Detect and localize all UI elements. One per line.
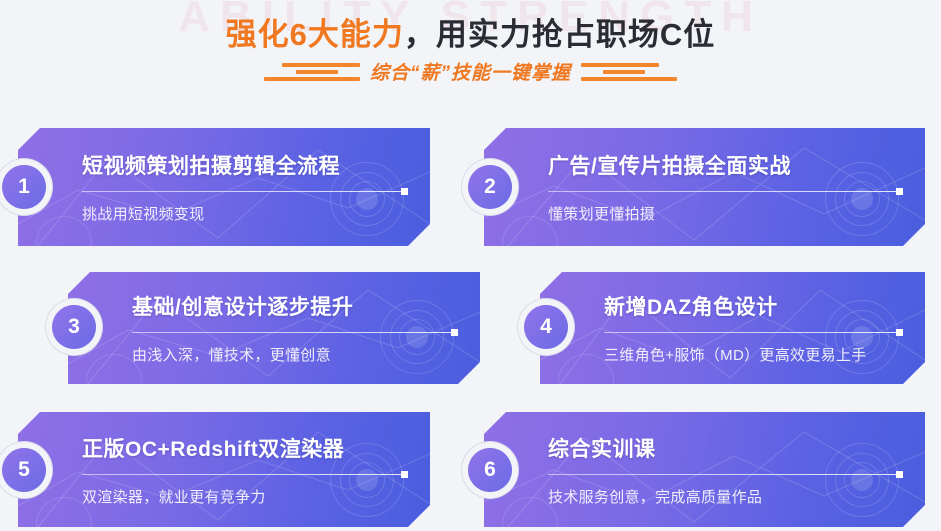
feature-card[interactable]: 正版OC+Redshift双渲染器 双渲染器，就业更有竞争力 [18, 412, 430, 527]
feature-card-subtitle: 双渲染器，就业更有竞争力 [82, 486, 406, 507]
feature-card[interactable]: 基础/创意设计逐步提升 由浅入深，懂技术，更懂创意 [68, 272, 480, 384]
feature-card-number-badge: 5 [2, 448, 46, 492]
feature-card[interactable]: 综合实训课 技术服务创意，完成高质量作品 [484, 412, 925, 527]
feature-card[interactable]: 短视频策划拍摄剪辑全流程 挑战用短视频变现 [18, 128, 430, 246]
feature-card-number-badge: 2 [468, 165, 512, 209]
feature-card-title: 短视频策划拍摄剪辑全流程 [82, 150, 406, 180]
feature-card-content: 基础/创意设计逐步提升 由浅入深，懂技术，更懂创意 [132, 272, 456, 384]
feature-card-subtitle: 技术服务创意，完成高质量作品 [548, 486, 901, 507]
feature-card-divider [132, 332, 456, 333]
feature-card-number-badge: 1 [2, 165, 46, 209]
feature-card-title: 新增DAZ角色设计 [604, 291, 901, 321]
feature-card-title: 综合实训课 [548, 433, 901, 463]
feature-card-number-badge: 4 [524, 305, 568, 349]
feature-card-content: 广告/宣传片拍摄全面实战 懂策划更懂拍摄 [548, 128, 901, 246]
feature-card-title: 广告/宣传片拍摄全面实战 [548, 150, 901, 180]
feature-card-divider [548, 191, 901, 192]
feature-card[interactable]: 新增DAZ角色设计 三维角色+服饰（MD）更高效更易上手 [540, 272, 925, 384]
feature-card-title: 正版OC+Redshift双渲染器 [82, 433, 406, 463]
feature-card-subtitle: 懂策划更懂拍摄 [548, 203, 901, 224]
feature-card-grid: 短视频策划拍摄剪辑全流程 挑战用短视频变现 1 广告/宣传片拍摄全面实战 懂策划… [0, 0, 941, 531]
feature-card-subtitle: 三维角色+服饰（MD）更高效更易上手 [604, 344, 901, 365]
feature-card-content: 正版OC+Redshift双渲染器 双渲染器，就业更有竞争力 [82, 412, 406, 527]
feature-card-number-badge: 6 [468, 448, 512, 492]
feature-card-number-badge: 3 [52, 305, 96, 349]
feature-card-content: 短视频策划拍摄剪辑全流程 挑战用短视频变现 [82, 128, 406, 246]
feature-card[interactable]: 广告/宣传片拍摄全面实战 懂策划更懂拍摄 [484, 128, 925, 246]
feature-card-divider [604, 332, 901, 333]
feature-card-divider [82, 191, 406, 192]
feature-card-subtitle: 由浅入深，懂技术，更懂创意 [132, 344, 456, 365]
feature-card-divider [548, 474, 901, 475]
feature-card-content: 新增DAZ角色设计 三维角色+服饰（MD）更高效更易上手 [604, 272, 901, 384]
feature-card-title: 基础/创意设计逐步提升 [132, 291, 456, 321]
feature-card-divider [82, 474, 406, 475]
feature-card-subtitle: 挑战用短视频变现 [82, 203, 406, 224]
feature-card-content: 综合实训课 技术服务创意，完成高质量作品 [548, 412, 901, 527]
